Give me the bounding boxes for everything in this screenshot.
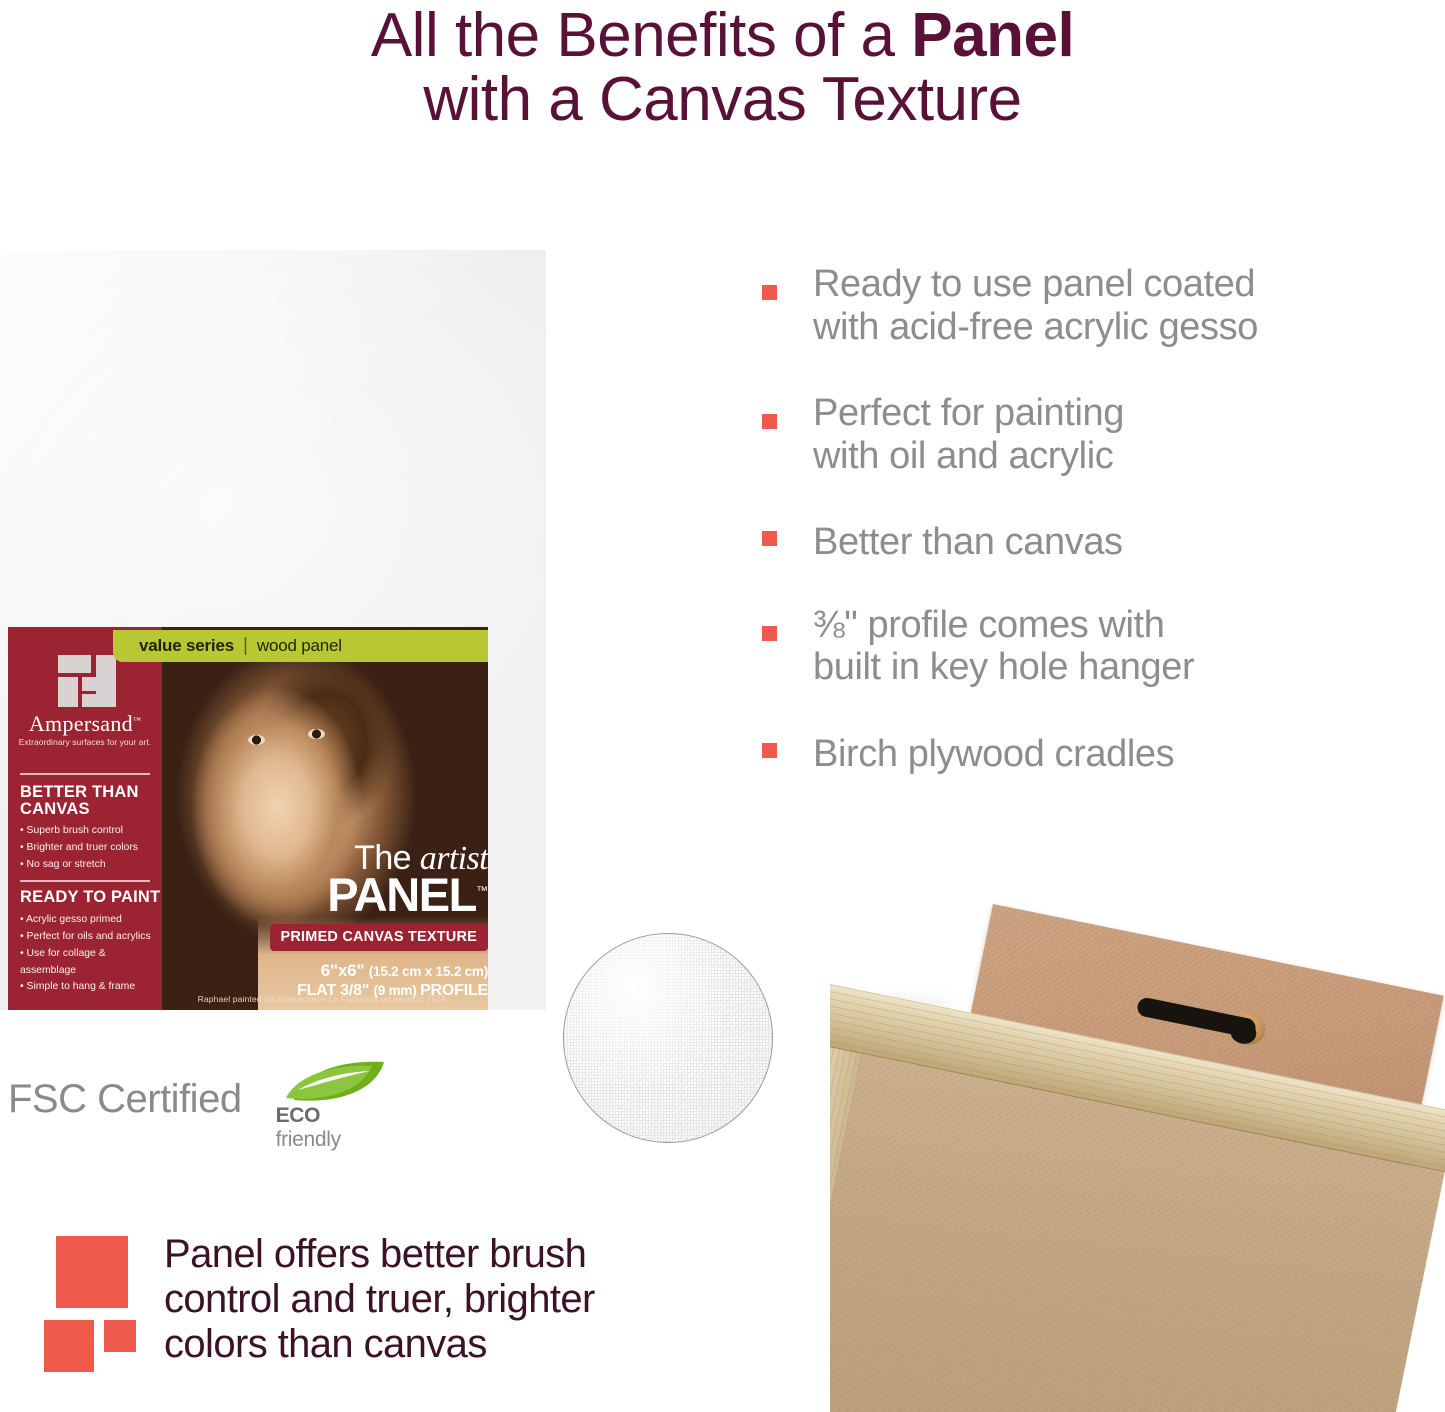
label-divider-2 xyxy=(20,880,150,882)
list-item: Birch plywood cradles xyxy=(762,733,1422,776)
product-size-metric: (15.2 cm x 15.2 cm) xyxy=(369,964,488,979)
eco-bold-text: ECO xyxy=(276,1104,321,1127)
product-label: Ampersand™ Extraordinary surfaces for yo… xyxy=(8,627,488,1010)
ampersand-logo-mark-icon xyxy=(58,655,116,707)
label-divider-1 xyxy=(20,773,150,775)
label-footnote: Raphael painted his masterpiece La Forna… xyxy=(158,994,488,1004)
banner-separator: | xyxy=(234,635,257,657)
bullet-square-icon xyxy=(762,531,777,546)
list-item: Brighter and truer colors xyxy=(20,840,138,857)
product-name-block: The artist PANEL™ PRIMED CANVAS TEXTURE … xyxy=(178,842,488,1000)
product-subtitle-wrap: PRIMED CANVAS TEXTURE xyxy=(178,917,488,951)
brand-tagline: Extraordinary surfaces for your art. xyxy=(8,737,162,747)
product-size: 6"x6" (15.2 cm x 15.2 cm) xyxy=(178,961,488,981)
bullet-square-icon xyxy=(762,626,777,641)
label-red-column: Ampersand™ Extraordinary surfaces for yo… xyxy=(8,627,162,1010)
canvas-texture-swatch xyxy=(563,933,773,1143)
list-item: Use for collage & assemblage xyxy=(20,946,162,980)
value-series-banner: value series | wood panel xyxy=(113,630,488,662)
list-item: Better than canvas xyxy=(762,521,1422,564)
eco-regular-text: friendly xyxy=(276,1128,341,1151)
label-heading-better-than-canvas: BETTER THAN CANVAS xyxy=(20,784,139,818)
list-item: Superb brush control xyxy=(20,823,138,840)
eco-friendly-label: ECO friendly xyxy=(276,1104,390,1152)
wood-panel-photo xyxy=(830,890,1445,1412)
page-title-line2: with a Canvas Texture xyxy=(0,68,1445,132)
page-title-line1: All the Benefits of a Panel xyxy=(371,1,1074,70)
label-bullets-section2: Acrylic gesso primed Perfect for oils an… xyxy=(20,912,162,996)
banner-right-label: wood panel xyxy=(257,636,342,656)
caption-text: Panel offers better brush control and tr… xyxy=(164,1232,744,1366)
list-item: ⅜" profile comes with built in key hole … xyxy=(762,604,1422,689)
brand-tm: ™ xyxy=(133,716,141,725)
footnote-artwork-title: La Fornarina xyxy=(328,994,378,1004)
texture-highlight xyxy=(564,934,772,1142)
list-item: Perfect for oils and acrylics xyxy=(20,929,162,946)
bullet-square-icon xyxy=(762,285,777,300)
benefit-text: Better than canvas xyxy=(813,521,1422,564)
product-name-line2: PANEL™ xyxy=(178,873,488,917)
portrait-eye-right xyxy=(308,729,325,739)
benefit-text: Perfect for painting with oil and acryli… xyxy=(813,392,1422,477)
label-heading-ready-to-paint: READY TO PAINT xyxy=(20,889,160,906)
certification-row: FSC Certified ECO friendly xyxy=(8,1060,390,1138)
product-name-tm: ™ xyxy=(476,884,488,898)
page-title-emphasis: Panel xyxy=(911,1,1074,70)
portrait-eye-left xyxy=(248,735,265,745)
benefit-text: ⅜" profile comes with built in key hole … xyxy=(813,604,1422,689)
bottom-caption: Panel offers better brush control and tr… xyxy=(44,1232,744,1366)
banner-left-label: value series xyxy=(113,636,234,656)
product-subtitle-tag: PRIMED CANVAS TEXTURE xyxy=(270,924,488,951)
list-item: Ready to use panel coated with acid-free… xyxy=(762,263,1422,348)
benefit-text: Ready to use panel coated with acid-free… xyxy=(813,263,1422,348)
benefit-text: Birch plywood cradles xyxy=(813,733,1422,776)
eco-friendly-badge: ECO friendly xyxy=(270,1060,390,1138)
leaf-icon xyxy=(284,1060,390,1104)
list-item: Perfect for painting with oil and acryli… xyxy=(762,392,1422,477)
benefits-list: Ready to use panel coated with acid-free… xyxy=(762,263,1422,819)
bullet-square-icon xyxy=(762,743,777,758)
list-item: Simple to hang & frame xyxy=(20,979,162,996)
fsc-certified-label: FSC Certified xyxy=(8,1077,242,1122)
label-bullets-section1: Superb brush control Brighter and truer … xyxy=(20,823,138,874)
bullet-square-icon xyxy=(762,414,777,429)
list-item: No sag or stretch xyxy=(20,857,138,874)
brand-name: Ampersand™ xyxy=(8,711,162,737)
list-item: Acrylic gesso primed xyxy=(20,912,162,929)
page-title: All the Benefits of a Panel with a Canva… xyxy=(0,4,1445,133)
ampersand-square-mark-icon xyxy=(44,1236,164,1371)
